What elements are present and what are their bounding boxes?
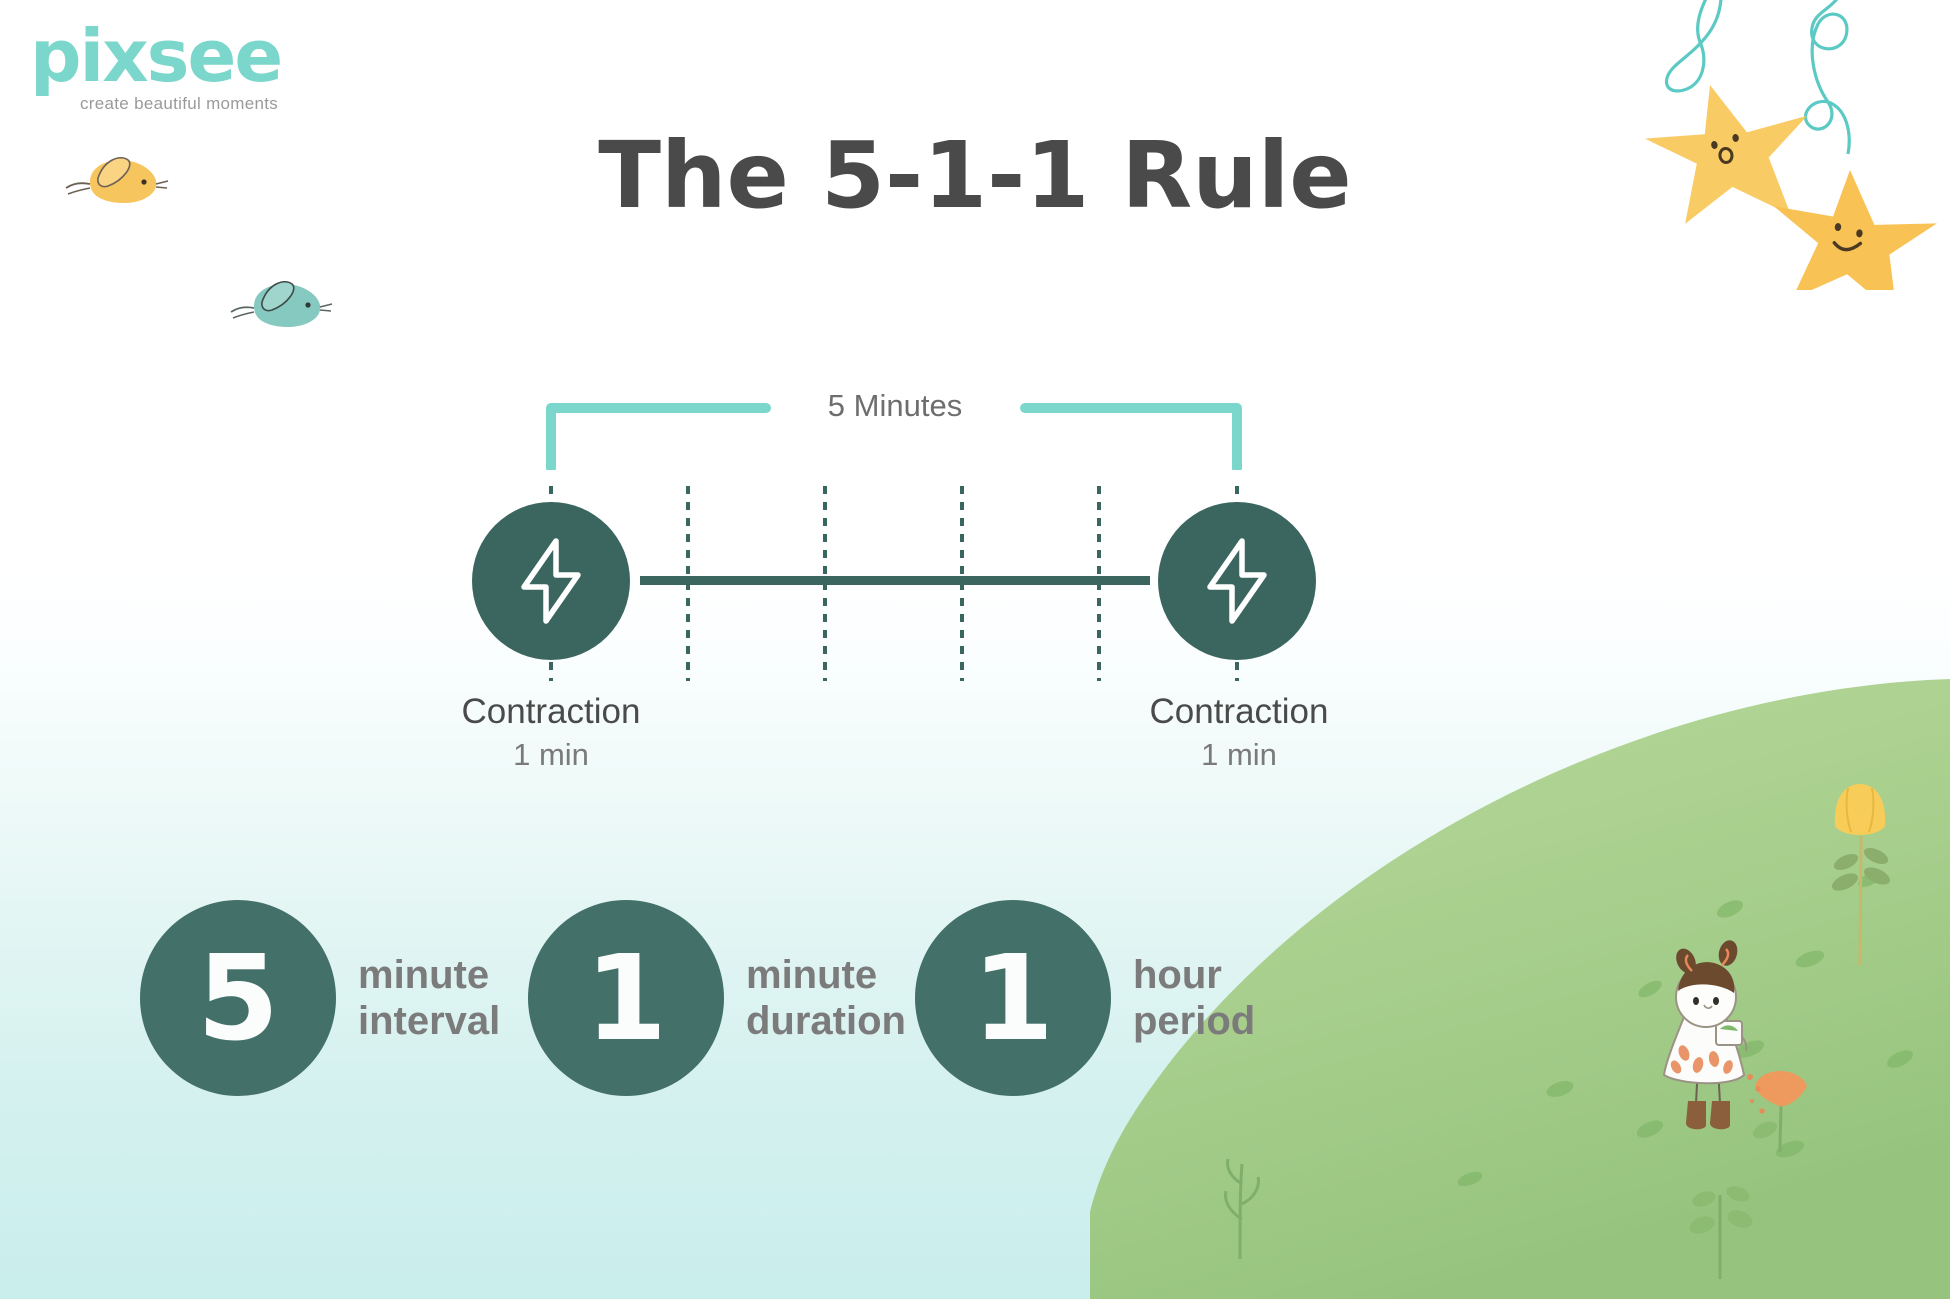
lightning-bolt-icon [1204,538,1270,624]
stat-item-period[interactable]: 1 hour period [915,900,1255,1096]
timeline-axis [640,576,1150,585]
stat-number-period: 1 [972,939,1054,1057]
contraction-label-1-title: Contraction [462,692,641,731]
contraction-timeline: 5 Minutes Contraction 1 min Contraction … [480,390,1310,720]
infographic-canvas: pixsee create beautiful moments The 5-1-… [0,0,1950,1299]
stat-item-interval[interactable]: 5 minute interval [140,900,500,1096]
stat-circle-period: 1 [915,900,1111,1096]
interval-bracket-label: 5 Minutes [480,390,1310,421]
contraction-label-1: Contraction 1 min [401,690,701,774]
stat-label-interval: minute interval [358,952,500,1044]
stat-number-duration: 1 [585,939,667,1057]
page-title: The 5-1-1 Rule [0,122,1950,229]
contraction-node-1[interactable] [472,502,630,660]
lightning-bolt-icon [518,538,584,624]
brand-name: pixsee [30,22,330,90]
contraction-label-2-title: Contraction [1150,692,1329,731]
contraction-label-2: Contraction 1 min [1089,690,1389,774]
stat-item-duration[interactable]: 1 minute duration [528,900,906,1096]
brand-tagline: create beautiful moments [80,94,330,114]
stat-label-duration: minute duration [746,952,906,1044]
stat-number-interval: 5 [197,939,279,1057]
brand-logo[interactable]: pixsee create beautiful moments [30,22,330,114]
stat-group: 5 minute interval 1 minute duration 1 ho… [140,900,1390,1130]
contraction-label-2-sub: 1 min [1089,735,1389,775]
stat-label-period: hour period [1133,952,1255,1044]
contraction-node-2[interactable] [1158,502,1316,660]
contraction-label-1-sub: 1 min [401,735,701,775]
stat-circle-duration: 1 [528,900,724,1096]
stat-circle-interval: 5 [140,900,336,1096]
